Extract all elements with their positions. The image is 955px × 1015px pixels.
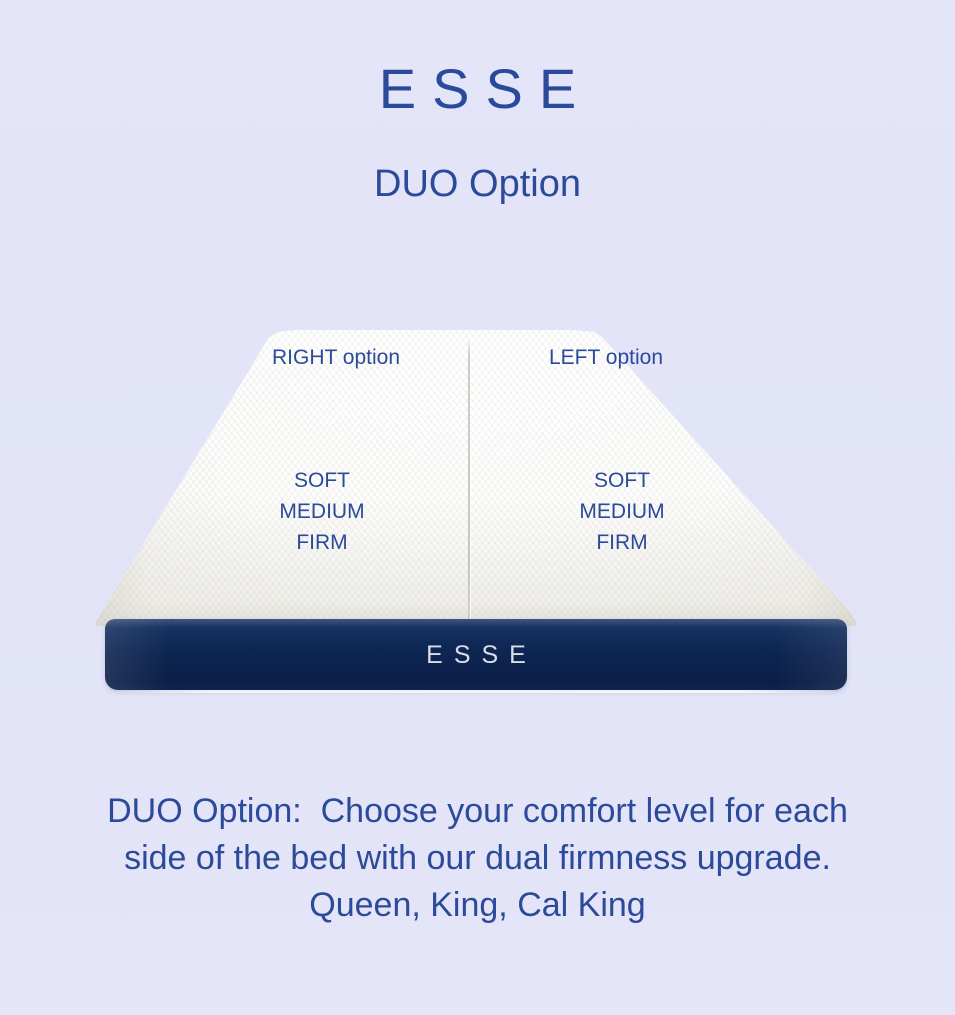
page-subtitle: DUO Option [0, 163, 955, 207]
mattress-knit-texture [96, 330, 856, 626]
caption-line-3: Queen, King, Cal King [48, 882, 907, 929]
left-side-label: LEFT option [516, 346, 696, 370]
caption-line-2: side of the bed with our dual firmness u… [48, 835, 907, 882]
firmness-option-medium: MEDIUM [532, 496, 712, 527]
right-side-firmness-list: SOFT MEDIUM FIRM [232, 465, 412, 558]
mattress-center-seam [468, 338, 470, 626]
caption-line-1: DUO Option: Choose your comfort level fo… [48, 788, 907, 835]
firmness-option-soft: SOFT [232, 465, 412, 496]
base-brand-logo: ESSE [105, 641, 847, 670]
product-caption: DUO Option: Choose your comfort level fo… [0, 788, 955, 929]
firmness-option-medium: MEDIUM [232, 496, 412, 527]
mattress-illustration: RIGHT option LEFT option SOFT MEDIUM FIR… [96, 330, 856, 702]
brand-title: ESSE [0, 60, 955, 119]
base-floor-highlight [108, 690, 844, 693]
firmness-option-firm: FIRM [232, 527, 412, 558]
firmness-option-soft: SOFT [532, 465, 712, 496]
product-graphic-page: ESSE DUO Option RIGHT option LEFT option… [0, 0, 955, 1015]
left-side-firmness-list: SOFT MEDIUM FIRM [532, 465, 712, 558]
firmness-option-firm: FIRM [532, 527, 712, 558]
mattress-foundation-base: ESSE [105, 619, 847, 690]
right-side-label: RIGHT option [246, 346, 426, 370]
